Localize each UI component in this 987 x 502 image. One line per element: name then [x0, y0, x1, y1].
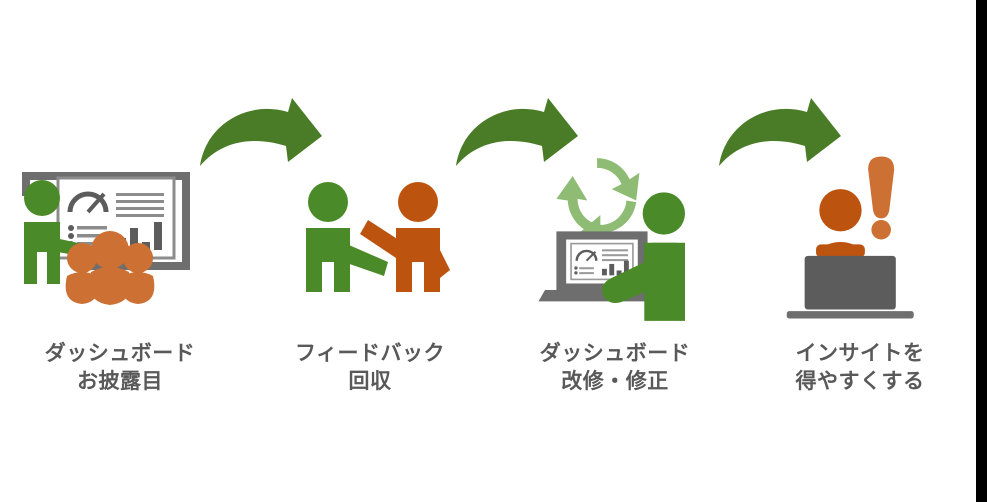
step-4-label-line1: インサイトを — [796, 342, 925, 365]
step-1-label-line1: ダッシュボード — [45, 342, 196, 365]
dashboard-revision-icon — [495, 150, 735, 325]
step-3-label-line2: 改修・修正 — [495, 368, 735, 396]
step-2-label: フィードバック 回収 — [250, 340, 490, 397]
step-1-label-line2: お披露目 — [0, 368, 240, 396]
process-step-1: ダッシュボード お披露目 — [0, 0, 240, 502]
step-1-label: ダッシュボード お披露目 — [0, 340, 240, 397]
diagram-canvas: ダッシュボード お披露目 — [0, 0, 976, 502]
step-2-label-line2: 回収 — [250, 368, 490, 396]
step-3-label: ダッシュボード 改修・修正 — [495, 340, 735, 397]
step-3-label-line1: ダッシュボード — [540, 342, 691, 365]
feedback-two-people-icon — [250, 150, 490, 325]
process-step-3: ダッシュボード 改修・修正 — [495, 0, 735, 502]
step-4-label-line2: 得やすくする — [740, 368, 976, 396]
process-step-4: インサイトを 得やすくする — [740, 0, 976, 502]
process-step-2: フィードバック 回収 — [250, 0, 490, 502]
right-edge-band — [976, 0, 987, 502]
step-2-label-line1: フィードバック — [295, 342, 445, 365]
insight-discovery-icon — [740, 150, 976, 325]
presentation-dashboard-icon — [0, 150, 240, 325]
step-4-label: インサイトを 得やすくする — [740, 340, 976, 397]
